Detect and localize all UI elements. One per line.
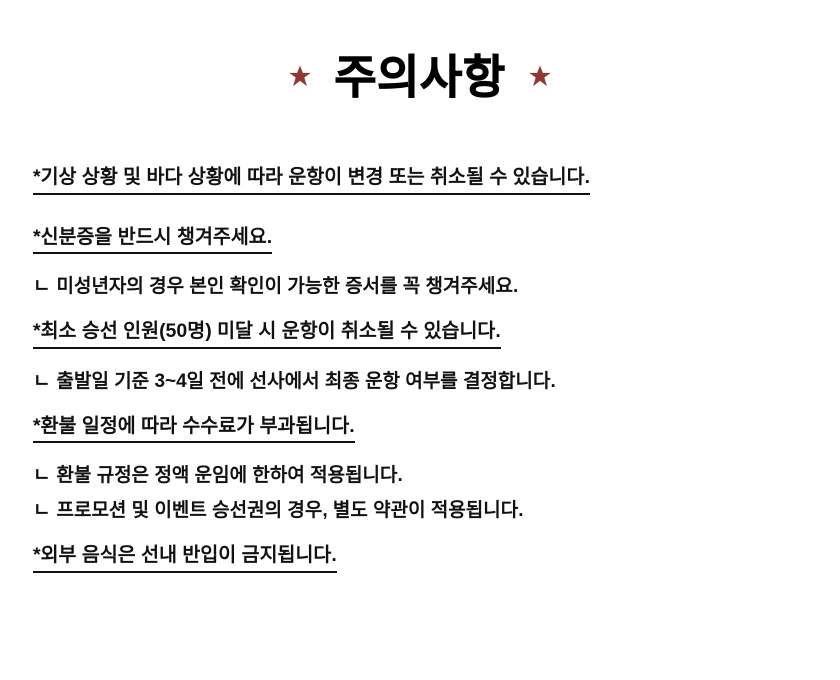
notice-section: *환불 일정에 따라 수수료가 부과됩니다. ㄴ환불 규정은 정액 운임에 한하… xyxy=(33,417,816,521)
notice-heading: *외부 음식은 선내 반입이 금지됩니다. xyxy=(33,546,337,573)
subitem-marker-icon: ㄴ xyxy=(33,372,50,391)
subitem-text: 출발일 기준 3~4일 전에 선사에서 최종 운항 여부를 결정합니다. xyxy=(56,371,555,392)
notice-subitem: ㄴ미성년자의 경우 본인 확인이 가능한 증서를 꼭 챙겨주세요. xyxy=(33,277,816,296)
notice-subitem: ㄴ프로모션 및 이벤트 승선권의 경우, 별도 약관이 적용됩니다. xyxy=(33,501,816,520)
notice-heading: *기상 상황 및 바다 상황에 따라 운항이 변경 또는 취소될 수 있습니다. xyxy=(33,168,590,195)
star-icon-right xyxy=(528,65,552,89)
notice-subitem: ㄴ환불 규정은 정액 운임에 한하여 적용됩니다. xyxy=(33,466,816,485)
subitem-text: 미성년자의 경우 본인 확인이 가능한 증서를 꼭 챙겨주세요. xyxy=(56,276,518,297)
subitem-marker-icon: ㄴ xyxy=(33,277,50,296)
subitem-text: 프로모션 및 이벤트 승선권의 경우, 별도 약관이 적용됩니다. xyxy=(56,500,523,521)
notice-document: 주의사항 *기상 상황 및 바다 상황에 따라 운항이 변경 또는 취소될 수 … xyxy=(0,0,840,680)
subitem-marker-icon: ㄴ xyxy=(33,501,50,520)
notice-section: *기상 상황 및 바다 상황에 따라 운항이 변경 또는 취소될 수 있습니다. xyxy=(33,168,816,202)
notice-section: *외부 음식은 선내 반입이 금지됩니다. xyxy=(33,546,816,580)
subitem-text: 환불 규정은 정액 운임에 한하여 적용됩니다. xyxy=(56,465,402,486)
notice-section: *최소 승선 인원(50명) 미달 시 운항이 취소될 수 있습니다. ㄴ출발일… xyxy=(33,322,816,391)
notice-heading: *환불 일정에 따라 수수료가 부과됩니다. xyxy=(33,417,355,444)
notice-heading: *최소 승선 인원(50명) 미달 시 운항이 취소될 수 있습니다. xyxy=(33,322,501,349)
title-row: 주의사항 xyxy=(0,0,840,110)
notice-section: *신분증을 반드시 챙겨주세요. ㄴ미성년자의 경우 본인 확인이 가능한 증서… xyxy=(33,228,816,297)
notice-body: *기상 상황 및 바다 상황에 따라 운항이 변경 또는 취소될 수 있습니다.… xyxy=(0,168,840,580)
notice-heading: *신분증을 반드시 챙겨주세요. xyxy=(33,228,272,255)
page-title: 주의사항 xyxy=(334,54,505,100)
notice-subitem: ㄴ출발일 기준 3~4일 전에 선사에서 최종 운항 여부를 결정합니다. xyxy=(33,372,816,391)
star-icon-left xyxy=(288,65,312,89)
subitem-marker-icon: ㄴ xyxy=(33,466,50,485)
